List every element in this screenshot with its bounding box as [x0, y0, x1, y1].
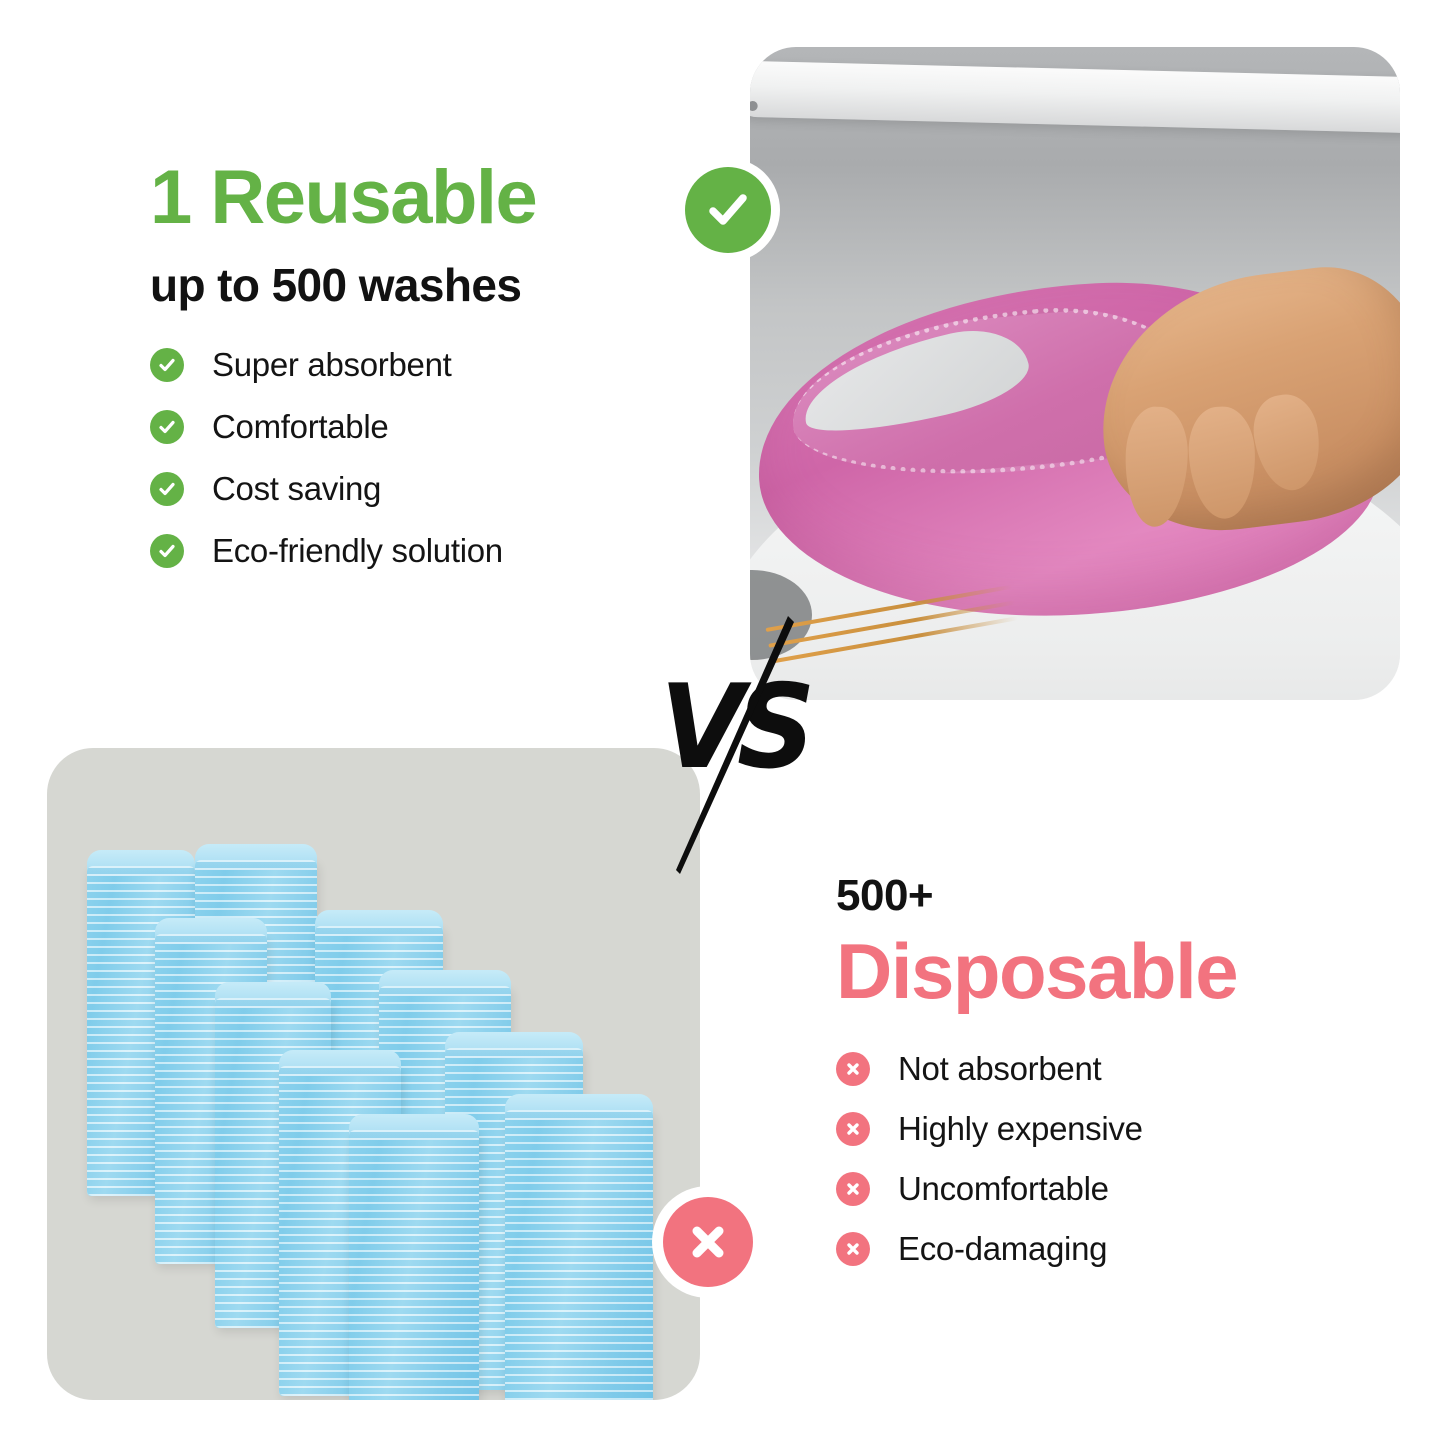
cross-circle-icon	[836, 1112, 870, 1146]
feature-label: Eco-friendly solution	[212, 532, 503, 570]
check-circle-icon	[150, 534, 184, 568]
finger	[1186, 405, 1258, 520]
reusable-subhead: up to 500 washes	[150, 262, 770, 308]
check-badge-disc	[685, 167, 771, 253]
list-item: Comfortable	[150, 408, 770, 446]
feature-label: Eco-damaging	[898, 1230, 1107, 1268]
cross-circle-icon	[836, 1232, 870, 1266]
feature-label: Uncomfortable	[898, 1170, 1109, 1208]
feature-label: Cost saving	[212, 470, 381, 508]
vs-divider: VS	[660, 612, 850, 882]
disposable-pad-stacks	[47, 748, 700, 1400]
feature-label: Super absorbent	[212, 346, 452, 384]
comparison-infographic: 1 Reusable up to 500 washes Super absorb…	[0, 0, 1445, 1445]
pad-stack	[349, 1130, 479, 1400]
feature-label: Not absorbent	[898, 1050, 1101, 1088]
cross-badge-disc	[663, 1197, 753, 1287]
disposable-text-block: 500+ Disposable Not absorbent Highly exp…	[836, 874, 1416, 1290]
feature-label: Highly expensive	[898, 1110, 1143, 1148]
list-item: Eco-damaging	[836, 1230, 1416, 1268]
check-circle-icon	[150, 348, 184, 382]
list-item: Super absorbent	[150, 346, 770, 384]
cross-badge-icon	[652, 1186, 764, 1298]
pad-stack	[505, 1110, 653, 1400]
reusable-feature-list: Super absorbent Comfortable Cost saving …	[150, 346, 770, 570]
disposable-feature-list: Not absorbent Highly expensive Uncomfort…	[836, 1050, 1416, 1268]
list-item: Eco-friendly solution	[150, 532, 770, 570]
cross-circle-icon	[836, 1052, 870, 1086]
cross-circle-icon	[836, 1172, 870, 1206]
feature-label: Comfortable	[212, 408, 388, 446]
disposable-headline: Disposable	[836, 932, 1416, 1010]
list-item: Not absorbent	[836, 1050, 1416, 1088]
reusable-product-photo	[750, 47, 1400, 700]
vs-label: VS	[660, 670, 808, 786]
disposable-product-photo	[47, 748, 700, 1400]
check-glyph	[700, 182, 756, 238]
cross-glyph	[680, 1214, 736, 1270]
check-circle-icon	[150, 472, 184, 506]
list-item: Uncomfortable	[836, 1170, 1416, 1208]
check-badge-icon	[676, 158, 780, 262]
finger	[1248, 390, 1326, 495]
check-circle-icon	[150, 410, 184, 444]
disposable-count: 500+	[836, 874, 1416, 918]
reusable-text-block: 1 Reusable up to 500 washes Super absorb…	[150, 160, 770, 594]
list-item: Highly expensive	[836, 1110, 1416, 1148]
list-item: Cost saving	[150, 470, 770, 508]
